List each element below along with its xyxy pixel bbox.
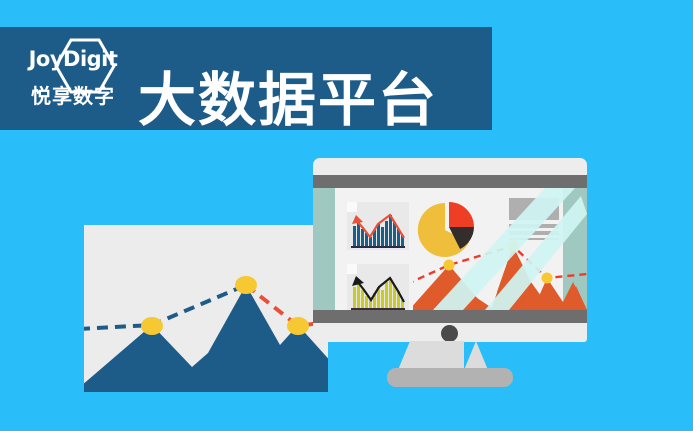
logo-wordmark: JoyDigit xyxy=(14,49,132,70)
page-title: 大数据平台 xyxy=(138,71,438,129)
data-marker xyxy=(235,276,257,294)
data-marker xyxy=(287,317,309,335)
logo-subtitle: 悦享数字 xyxy=(14,85,132,107)
monitor-stand xyxy=(410,341,464,370)
data-marker xyxy=(141,317,163,335)
monitor-bottom-bezel xyxy=(313,310,587,323)
header-banner: JoyDigit 悦享数字 大数据平台 xyxy=(0,27,492,130)
screen-glare xyxy=(313,188,587,310)
monitor-base xyxy=(387,368,513,387)
brand-logo: JoyDigit 悦享数字 xyxy=(14,33,132,125)
monitor xyxy=(313,158,587,342)
poster-canvas: JoyDigit 悦享数字 大数据平台 xyxy=(0,0,693,431)
monitor-screen xyxy=(313,188,587,310)
power-button-icon[interactable] xyxy=(441,325,458,342)
mountain-trend-chart xyxy=(84,225,328,392)
monitor-top-bezel xyxy=(313,175,587,188)
monitor-stand-right xyxy=(464,341,488,370)
trend-line-left xyxy=(84,285,246,329)
mountain-trend-panel xyxy=(84,225,328,392)
